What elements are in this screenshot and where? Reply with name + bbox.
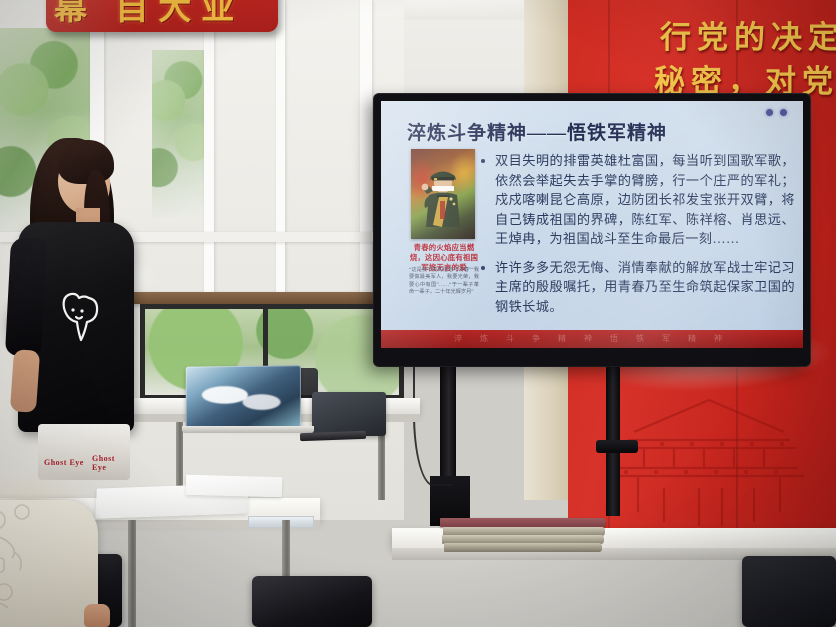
presenter-hair-bangs <box>58 140 114 184</box>
power-cable <box>413 366 453 486</box>
laptop-lid-graphic <box>199 376 286 419</box>
window-pane-center <box>152 50 204 218</box>
window-mullion-3 <box>276 0 285 300</box>
shorts-tag-left: Ghost Eye <box>44 458 84 467</box>
chair-right[interactable] <box>742 556 836 627</box>
wall-sign-left: 幕 自大业 <box>46 0 278 32</box>
chair-front-center[interactable] <box>252 576 372 627</box>
external-monitor[interactable] <box>312 392 386 436</box>
slide-bullet: 双目失明的排雷英雄杜富国，每当听到国歌军歌，依然会举起失去手掌的臂膀，行一个庄严… <box>477 151 795 249</box>
window-sill <box>130 292 404 304</box>
attendee-hand <box>84 604 110 627</box>
display-indicator-dots <box>766 109 787 116</box>
presenter-sleeve <box>5 237 47 357</box>
laptop-base <box>182 426 314 433</box>
attendee-foreground <box>0 500 98 627</box>
book <box>444 543 602 552</box>
desk-leg <box>128 520 136 627</box>
wall-sign-left-sheen <box>46 0 278 32</box>
tv-stand-bracket <box>596 440 638 453</box>
document-tray[interactable] <box>248 516 314 528</box>
wall-display[interactable]: 淬炼斗争精神——悟铁军精神 <box>374 94 810 366</box>
book <box>440 518 606 527</box>
window-mullion-4 <box>360 0 372 300</box>
book-stack[interactable] <box>440 518 608 552</box>
clothing-pattern-icon <box>0 500 98 627</box>
tshirt-print-animal-icon <box>56 286 114 342</box>
saluting-soldier-icon <box>421 165 465 227</box>
shorts-tag-right: Ghost Eye <box>92 454 130 472</box>
slide-photo-subcaption: “这是我不变的信念与青春”“我要做最美军人，我要光荣，我要心中有国”……“干一辈… <box>409 267 479 297</box>
display-screen: 淬炼斗争精神——悟铁军精神 <box>381 101 803 348</box>
screenshot-root: 幕 自大业 <box>0 0 836 627</box>
slide-photo <box>411 149 475 239</box>
slide-footer-text: 淬 炼 斗 争 精 神 悟 铁 军 精 神 <box>454 333 730 344</box>
slide-title: 淬炼斗争精神——悟铁军精神 <box>407 118 667 145</box>
window-mullion-2 <box>204 0 214 300</box>
loose-papers[interactable] <box>186 475 282 498</box>
slide-body: 双目失明的排雷英雄杜富国，每当听到国歌军歌，依然会举起失去手掌的臂膀，行一个庄严… <box>477 151 795 325</box>
presenter-arm <box>10 349 40 413</box>
laptop[interactable] <box>186 365 301 428</box>
slide-bullet: 许许多多无怨无悔、消情奉献的解放军战士牢记习主席的殷殷嘱托，用青春乃至生命筑起保… <box>477 258 795 317</box>
slide-footer: 淬 炼 斗 争 精 神 悟 铁 军 精 神 <box>381 330 803 348</box>
pagoda-relief-icon <box>604 392 814 542</box>
banner-line-1: 行党的决定， <box>660 12 836 57</box>
